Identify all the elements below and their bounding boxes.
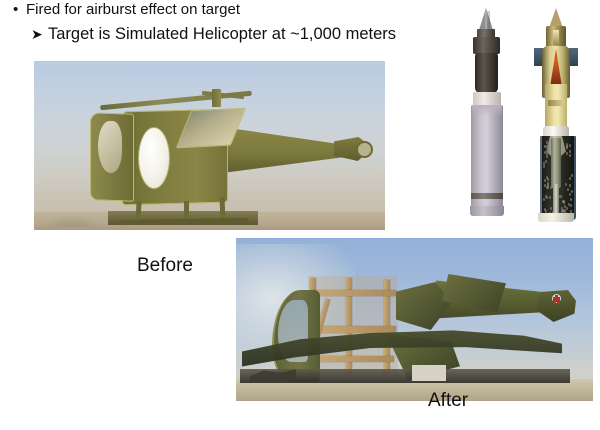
propellant-grain — [544, 208, 546, 211]
propellant-grain — [545, 160, 547, 163]
propellant-grain — [562, 200, 564, 203]
propellant-grain — [569, 154, 571, 157]
propellant-grain — [566, 207, 568, 210]
propellant-grain — [571, 190, 573, 193]
fuze-body — [473, 37, 500, 54]
tail-marking-icon — [552, 294, 561, 303]
driving-band — [473, 92, 501, 106]
ammunition-group — [458, 4, 598, 226]
propellant-grain — [569, 177, 571, 180]
before-caption: Before — [137, 255, 193, 277]
case-groove — [471, 193, 503, 199]
cartridge-exterior-view — [464, 8, 510, 222]
propellant-grain — [546, 155, 548, 158]
propellant-grain — [546, 141, 548, 144]
after-photo — [236, 238, 593, 401]
before-photo — [34, 61, 385, 230]
bullet-dot-icon: • — [13, 0, 18, 19]
debris — [412, 365, 446, 381]
frame-rail — [314, 356, 394, 362]
propellant-grain — [549, 196, 551, 199]
ground-brush — [42, 215, 102, 227]
primer-tube — [553, 184, 559, 214]
frame-rail — [310, 326, 396, 333]
propellant-grain — [565, 183, 567, 186]
case-shoulder — [472, 105, 502, 117]
tail-rotor — [356, 141, 373, 158]
bullet-item-level2-text: Target is Simulated Helicopter at ~1,000… — [48, 25, 396, 43]
projectile-ogive — [475, 53, 498, 93]
fill-marking — [548, 100, 564, 106]
projectile-tip-highlight — [485, 11, 490, 30]
propellant-grain — [569, 144, 571, 147]
propellant-grain — [543, 198, 545, 201]
propellant-grain — [566, 145, 568, 148]
fuze-core — [553, 30, 559, 45]
propellant-grain — [544, 145, 546, 148]
propellant-grain — [550, 207, 552, 210]
flash-tube — [551, 138, 561, 188]
case-rim — [470, 206, 504, 216]
rotor-mast — [212, 89, 221, 107]
propellant-grain — [570, 198, 572, 201]
propellant-grain — [547, 178, 549, 181]
propellant-grain — [560, 195, 562, 198]
projectile-tip — [549, 8, 563, 28]
propellant-grain — [547, 184, 549, 187]
cabin-window-oval — [138, 127, 170, 189]
propellant-grain — [544, 151, 546, 154]
after-caption: After — [428, 390, 468, 412]
stabilizer-fin — [569, 48, 578, 66]
tail-boom — [222, 127, 342, 173]
bullet-item-level1: • Fired for airburst effect on target — [0, 0, 480, 19]
propellant-grain — [567, 188, 569, 191]
propellant-grain — [570, 204, 572, 207]
bullet-item-level2: ➤ Target is Simulated Helicopter at ~1,0… — [0, 23, 480, 45]
explosive-fill — [545, 84, 567, 130]
bullet-arrow-icon: ➤ — [31, 23, 43, 45]
propellant-grain — [569, 193, 571, 196]
nose-window — [98, 121, 122, 173]
propellant-grain — [569, 184, 571, 187]
bullet-list: • Fired for airburst effect on target ➤ … — [0, 0, 480, 45]
propellant-grain — [569, 150, 571, 153]
propellant-grain — [544, 179, 546, 182]
propellant-grain — [566, 152, 568, 155]
bullet-item-level1-text: Fired for airburst effect on target — [26, 1, 240, 18]
frame-rail — [310, 290, 396, 296]
propellant-grain — [543, 165, 545, 168]
case-rim — [538, 213, 574, 222]
propellant-grain — [571, 174, 573, 177]
cartridge-cutaway-view — [532, 8, 580, 224]
